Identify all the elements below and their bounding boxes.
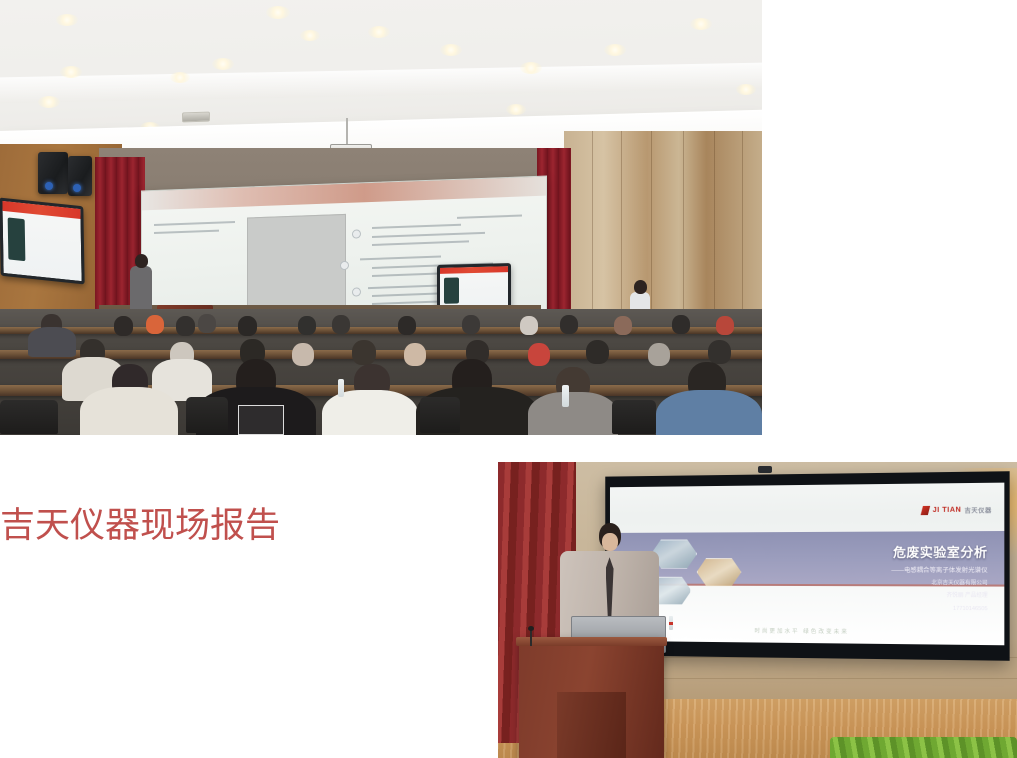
monitor-slide-image	[7, 217, 25, 261]
audience-body	[28, 327, 76, 357]
screen-slide-text-line	[154, 220, 235, 225]
ceiling-downlight	[368, 26, 390, 38]
wall-monitor-left	[0, 197, 85, 284]
ceiling-downlight	[300, 30, 320, 41]
audience-head	[672, 315, 690, 334]
audience-head	[462, 315, 480, 334]
audience-head	[332, 315, 350, 334]
screen-slide-text-line	[368, 284, 441, 289]
audience-head	[716, 316, 734, 335]
audience-body	[528, 392, 618, 435]
caption-text: 吉天仪器现场报告	[0, 500, 480, 552]
ceiling-downlight	[690, 18, 712, 30]
pa-speaker	[68, 156, 92, 196]
audience-head	[520, 316, 538, 335]
podium	[519, 637, 664, 758]
podium-base	[557, 692, 627, 758]
screen-slide-text-line	[457, 214, 522, 218]
podium-presenter-photo: JI TIAN 吉天仪器 危废实验室分析 ——电感耦合等离子体发射光谱仪 北京吉…	[498, 462, 1017, 758]
audience-head	[404, 343, 426, 366]
screen-slide-bullet	[352, 287, 361, 296]
ceiling-downlight	[440, 44, 462, 56]
audience-head	[586, 340, 609, 364]
monitor-slide-image	[444, 277, 459, 303]
slide-subtitle: ——电感耦合等离子体发射光谱仪	[891, 565, 987, 574]
hoodie-graphic-print	[238, 405, 284, 435]
ceiling-downlight	[266, 6, 290, 19]
conference-hall-wide-photo	[0, 0, 762, 435]
projector-mount-pole	[346, 118, 348, 144]
audience-body	[80, 387, 178, 435]
chair-back	[186, 397, 228, 433]
screen-slide-bullet	[340, 260, 349, 269]
audience-seating	[0, 309, 762, 435]
screen-slide-text-line	[372, 240, 469, 246]
ceiling-downlight	[38, 96, 60, 108]
ceiling-downlight	[170, 72, 190, 83]
audience-head	[528, 343, 550, 366]
audience-head	[238, 316, 257, 336]
chair-back	[0, 400, 58, 434]
slide-canvas: 吉天仪器现场报告 JI TIAN 吉天仪器 危	[0, 0, 1017, 758]
audience-head	[114, 316, 133, 336]
audience-head	[292, 343, 314, 366]
chair-back	[612, 400, 656, 434]
audience-head	[198, 314, 216, 333]
water-bottle	[562, 385, 569, 407]
water-bottle	[669, 616, 673, 630]
screen-slide-text-line	[372, 224, 461, 229]
slide-company: 北京吉天仪器有限公司	[932, 580, 988, 588]
audience-head	[352, 340, 376, 365]
audience-head	[398, 316, 416, 335]
screen-slide-image-block	[247, 213, 346, 310]
ceiling-downlight	[604, 44, 626, 56]
audience-head	[614, 316, 632, 335]
company-logo: JI TIAN 吉天仪器	[922, 505, 992, 515]
pa-speaker	[38, 152, 68, 194]
logo-latin-text: JI TIAN	[933, 507, 962, 514]
slide-title: 危废实验室分析	[893, 541, 988, 561]
screen-slide-text-line	[372, 232, 485, 238]
audience-head	[708, 340, 731, 364]
presenter-head	[135, 254, 148, 268]
projection-screen: JI TIAN 吉天仪器 危废实验室分析 ——电感耦合等离子体发射光谱仪 北京吉…	[605, 471, 1009, 660]
ceiling-downlight	[506, 104, 526, 115]
foreground-plants	[830, 737, 1017, 758]
ceiling-downlight	[520, 62, 542, 74]
slide-presenter: 齐悦丽 产品经理	[947, 593, 988, 601]
audience-head	[560, 315, 578, 334]
audience-body	[322, 390, 418, 435]
podium-top-edge	[516, 637, 667, 647]
water-bottle	[338, 379, 344, 397]
presenter-lapel	[606, 557, 614, 621]
presenter-face	[602, 533, 618, 551]
ceiling-downlight	[60, 66, 82, 78]
ceiling-air-vent	[182, 112, 210, 123]
ceiling-downlight	[212, 58, 234, 70]
audience-head	[146, 315, 164, 334]
ceiling-camera	[758, 466, 772, 473]
audience-head	[176, 316, 195, 336]
audience-body	[656, 390, 762, 435]
logo-mark-icon	[921, 506, 931, 515]
attendee-head	[634, 280, 647, 294]
chair-back	[420, 397, 460, 433]
ceiling-downlight	[736, 84, 756, 95]
screen-slide-text-line	[154, 230, 219, 234]
screen-slide-text-line	[360, 256, 441, 261]
screen-slide-bullet	[352, 229, 361, 238]
slide-phone: 17710146505	[953, 606, 988, 614]
audience-head	[648, 343, 670, 366]
podium-microphone	[530, 629, 532, 646]
ceiling-downlight	[56, 14, 78, 26]
audience-head	[298, 316, 316, 335]
logo-chinese-text: 吉天仪器	[965, 505, 992, 514]
